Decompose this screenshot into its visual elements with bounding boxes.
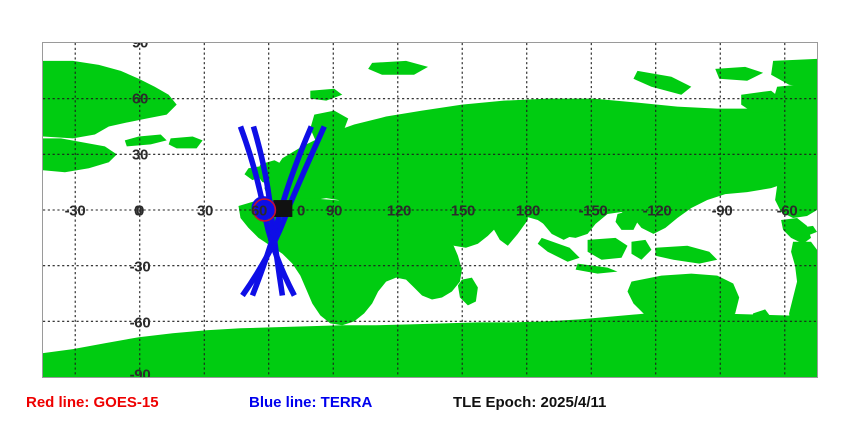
lat-tick-90: 90 <box>132 42 148 51</box>
lat-tick-30: 30 <box>132 148 148 163</box>
lon-tick-m120: -120 <box>643 204 672 219</box>
ground-track-figure: 90 60 30 0 -30 -60 -90 -30 0 30 60 0 90 … <box>0 0 850 425</box>
lat-tick-m30: -30 <box>130 260 151 275</box>
lon-tick-60-tail: 0 <box>297 204 305 219</box>
map-canvas <box>43 43 817 377</box>
lat-tick-m60: -60 <box>130 316 151 331</box>
obscured-lon-label-blob <box>273 200 292 217</box>
lon-tick-30: 30 <box>197 204 213 219</box>
lon-tick-0: 0 <box>136 204 144 219</box>
lat-tick-m90: -90 <box>130 368 151 379</box>
lon-tick-60: 60 <box>251 204 267 219</box>
lon-tick-m30: -30 <box>65 204 86 219</box>
lon-tick-90: 90 <box>326 204 342 219</box>
lon-tick-120: 120 <box>387 204 411 219</box>
legend-red-line-goes15: Red line: GOES-15 <box>26 394 159 412</box>
legend-blue-line-terra: Blue line: TERRA <box>249 394 372 412</box>
lon-tick-m90: -90 <box>712 204 733 219</box>
legend-bar: Red line: GOES-15 Blue line: TERRA TLE E… <box>0 392 850 420</box>
lon-tick-m60: -60 <box>777 204 798 219</box>
lon-tick-150: 150 <box>451 204 475 219</box>
map-svg <box>43 43 817 377</box>
world-map-panel: 90 60 30 0 -30 -60 -90 -30 0 30 60 0 90 … <box>42 42 818 378</box>
lon-tick-180: 180 <box>516 204 540 219</box>
legend-tle-epoch: TLE Epoch: 2025/4/11 <box>453 394 606 412</box>
lat-tick-60: 60 <box>132 92 148 107</box>
lon-tick-m150: -150 <box>579 204 608 219</box>
